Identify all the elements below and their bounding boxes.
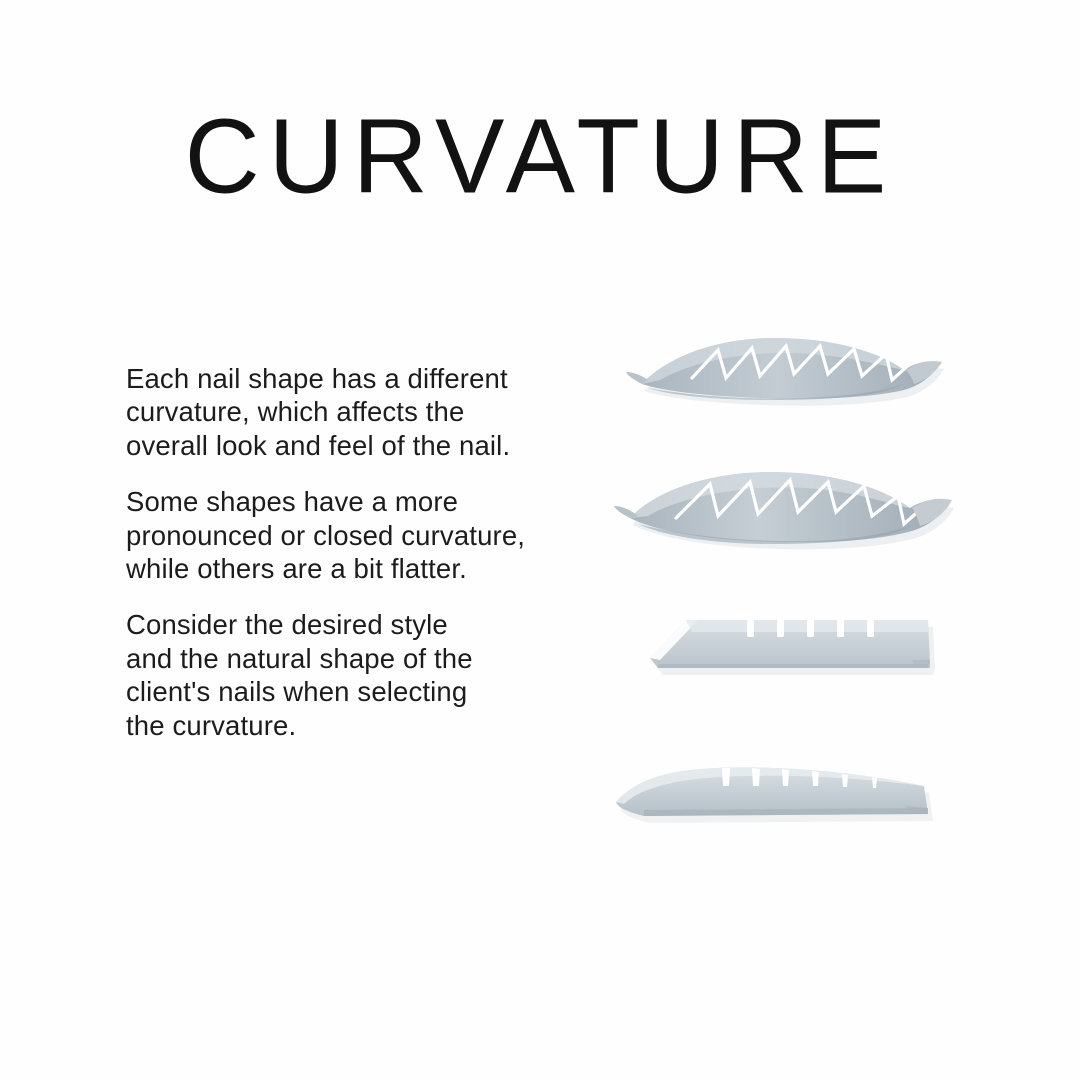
nail-tip-flat (600, 598, 1000, 698)
paragraph-3: Consider the desired style and the natur… (126, 608, 606, 742)
nail-tip-pronounced-c-curve (600, 458, 1000, 568)
tip-bottom-edge (658, 664, 928, 668)
nail-tip-gallery (600, 318, 1000, 848)
nail-tip-deep-c-curve (600, 318, 1000, 428)
slide-canvas: CURVATURE Each nail shape has a differen… (0, 0, 1080, 1080)
page-title: CURVATURE (0, 104, 1080, 210)
tip-left-tail (614, 506, 638, 518)
nail-tip-tapered-flat (600, 748, 1000, 848)
paragraph-1: Each nail shape has a different curvatur… (126, 362, 606, 462)
paragraph-2: Some shapes have a more pronounced or cl… (126, 485, 606, 585)
body-copy: Each nail shape has a different curvatur… (126, 362, 606, 742)
